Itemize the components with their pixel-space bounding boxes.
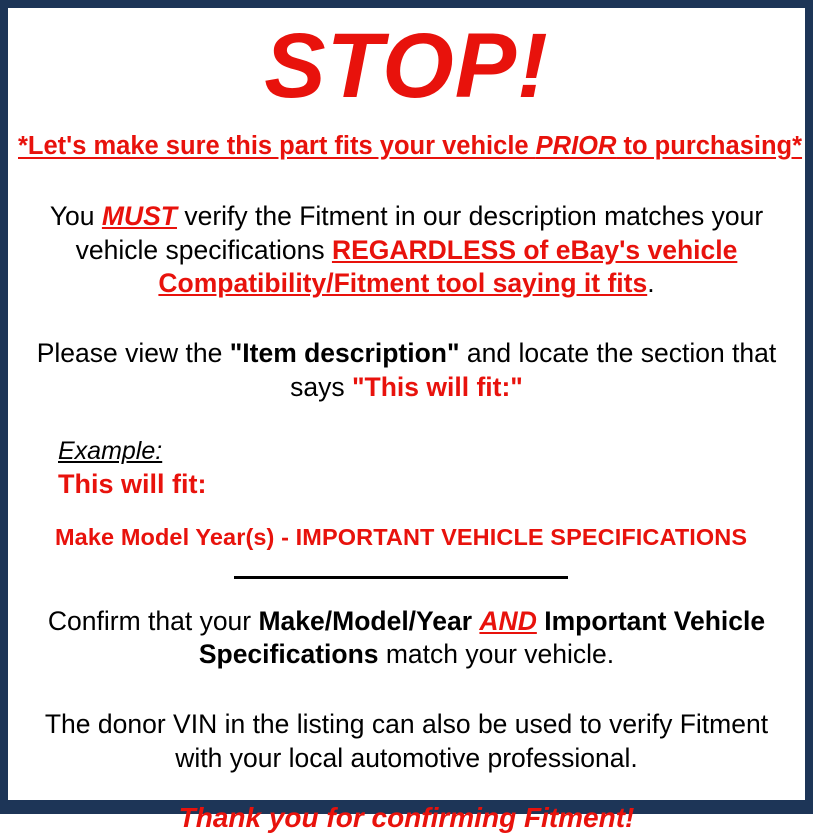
- example-label: Example:: [58, 438, 162, 466]
- confirm-paragraph: Confirm that your Make/Model/Year AND Im…: [18, 605, 795, 672]
- example-label-row: Example:: [58, 438, 795, 466]
- example-fit-line: This will fit:: [58, 469, 795, 499]
- tagline-prefix: *Let's make sure this part fits your veh…: [18, 132, 536, 160]
- must-emphasis: MUST: [102, 201, 177, 231]
- example-block: Example: This will fit: Make Model Year(…: [18, 438, 795, 551]
- confirm-segment-1: Confirm that your: [48, 606, 259, 636]
- item-description-paragraph: Please view the "Item description" and l…: [18, 337, 795, 404]
- example-spec-line: Make Model Year(s) - IMPORTANT VEHICLE S…: [55, 525, 795, 551]
- stop-heading: STOP!: [18, 20, 795, 112]
- tagline-emphasis-prior: PRIOR: [536, 132, 617, 160]
- notice-content: STOP! *Let's make sure this part fits yo…: [8, 20, 805, 812]
- and-emphasis: AND: [479, 606, 536, 636]
- must-verify-paragraph: You MUST verify the Fitment in our descr…: [18, 200, 795, 301]
- must-segment-1: You: [50, 201, 102, 231]
- item-description-emphasis: "Item description": [230, 338, 460, 368]
- desc-segment-1: Please view the: [37, 338, 230, 368]
- make-model-year-emphasis: Make/Model/Year: [258, 606, 479, 636]
- divider-row: [18, 575, 795, 579]
- must-segment-3: .: [647, 268, 654, 298]
- fitment-notice-card: STOP! *Let's make sure this part fits yo…: [0, 0, 813, 814]
- this-will-fit-emphasis: "This will fit:": [352, 372, 523, 402]
- tagline-suffix: to purchasing*: [616, 132, 802, 160]
- section-divider: [234, 576, 568, 579]
- confirm-segment-2: match your vehicle.: [379, 639, 615, 669]
- thanks-line: Thank you for confirming Fitment!: [18, 803, 795, 834]
- donor-vin-paragraph: The donor VIN in the listing can also be…: [18, 708, 795, 775]
- tagline: *Let's make sure this part fits your veh…: [18, 132, 795, 160]
